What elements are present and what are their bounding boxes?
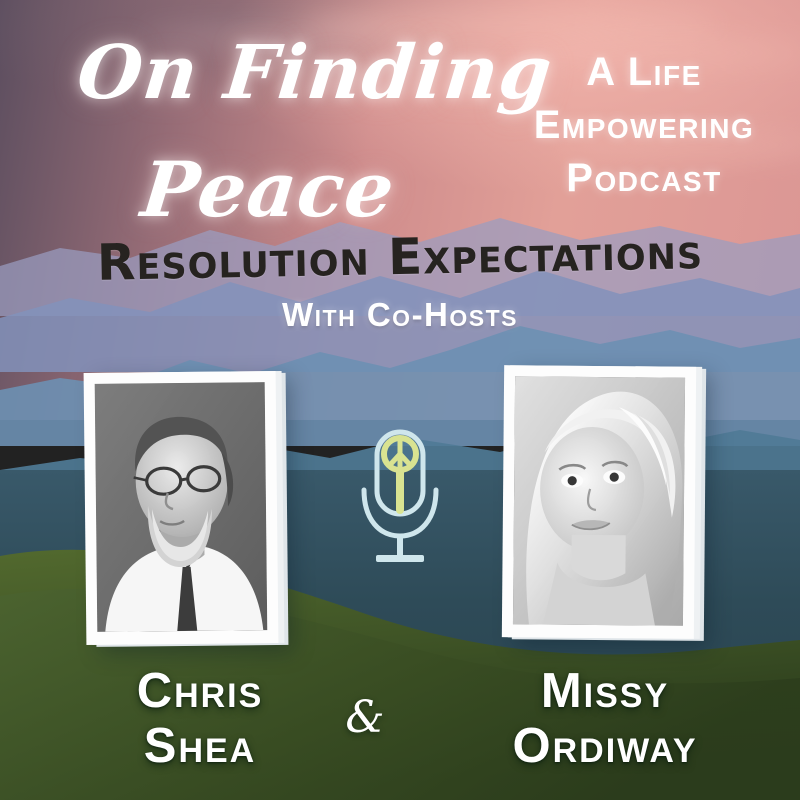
tagline-line-3: Podcast — [500, 152, 788, 205]
host-photo-frame-right — [502, 365, 696, 639]
microphone-peace-sign-icon — [352, 428, 448, 578]
page-title-line-2: Peace — [138, 152, 398, 228]
host-first-name: Chris — [40, 664, 360, 719]
host-last-name: Shea — [40, 719, 360, 774]
host-name-right: Missy Ordiway — [440, 664, 770, 774]
host-last-name: Ordiway — [440, 719, 770, 774]
podcast-cover-art: On Finding Peace A Life Empowering Podca… — [0, 0, 800, 800]
tagline-line-1: A Life — [500, 46, 788, 99]
tagline-block: A Life Empowering Podcast — [500, 46, 788, 204]
cohosts-label: With Co-Hosts — [0, 296, 800, 334]
host-first-name: Missy — [440, 664, 770, 719]
host-portrait-missy-ordiway — [513, 376, 685, 625]
tagline-line-2: Empowering — [500, 99, 788, 152]
page-title-line-1: On Finding — [74, 36, 556, 110]
host-name-left: Chris Shea — [40, 664, 360, 774]
host-portrait-chris-shea — [95, 382, 268, 632]
ampersand-separator: & — [330, 692, 400, 743]
host-photo-frame-left — [84, 371, 279, 645]
